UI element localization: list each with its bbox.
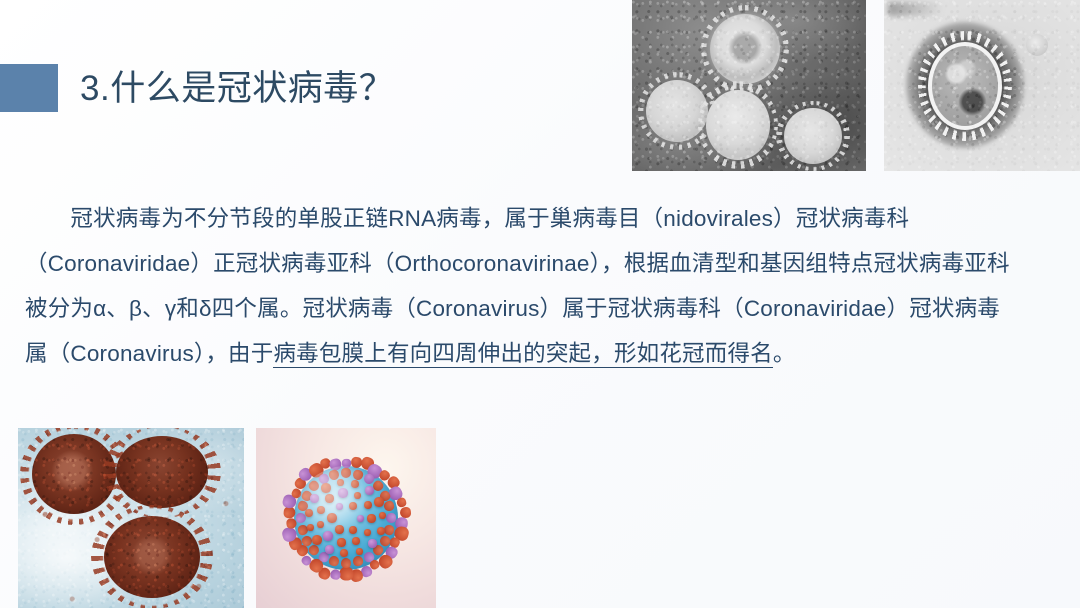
page-title: 3.什么是冠状病毒？ [80,71,394,106]
body-segment-plain-2: 。 [773,341,796,366]
electron-micrograph-single [884,0,1080,171]
electron-micrograph-cluster [632,0,866,171]
virus-spike-knob [321,483,331,493]
colorized-micrograph [18,428,244,608]
virus-spike-knob [325,494,334,503]
virus-spike-knob [368,539,377,548]
virus-spike-knob [364,501,372,509]
virus-spike-knob [349,526,357,534]
virus-spike-knob [336,503,343,510]
virus-spike-knob [307,524,314,531]
virus-spike-knob [312,535,322,545]
virus-spike-knob [351,480,359,488]
virus-spike-knob [323,531,333,541]
virus-spike-knob [374,497,384,507]
virus-spike-knob [317,506,325,514]
virus-spike-knob [349,502,357,510]
virus-spike-knob [337,479,344,486]
virus-spike-knob [337,538,346,547]
title-accent-bar [0,64,58,112]
body-segment-underlined: 病毒包膜上有向四周伸出的突起，形如花冠而得名 [273,341,772,368]
virus-spike-knob [310,494,319,503]
virus-spike-knob [356,548,363,555]
virus-spike-knob [317,521,324,528]
virus-spike-knob [327,513,337,523]
virus-spike-knob [305,509,313,517]
slide-canvas: 3.什么是冠状病毒？ 冠状病毒为不分节段的单股正链RNA病毒，属于巢病毒目（ni… [0,0,1080,608]
virus-spike-knob [354,492,361,499]
virus-3d-render [256,428,436,608]
virus-spike-knob [377,527,385,535]
virus-spike-knob [338,488,348,498]
virus-spike-knob [352,537,360,545]
virus-spike-knob [335,525,344,534]
virus-spike-knob [325,545,334,554]
virus-spike-knob [364,529,371,536]
body-paragraph: 冠状病毒为不分节段的单股正链RNA病毒，属于巢病毒目（nidovirales）冠… [25,196,1013,376]
virus-surface-knobs [256,428,436,608]
slide-title-row: 3.什么是冠状病毒？ [0,62,394,114]
virus-spike-knob [379,512,386,519]
virus-spike-knob [357,515,364,522]
virus-spike-knob [340,549,348,557]
virus-spike-knob [367,514,376,523]
virus-spike-knob [365,486,374,495]
